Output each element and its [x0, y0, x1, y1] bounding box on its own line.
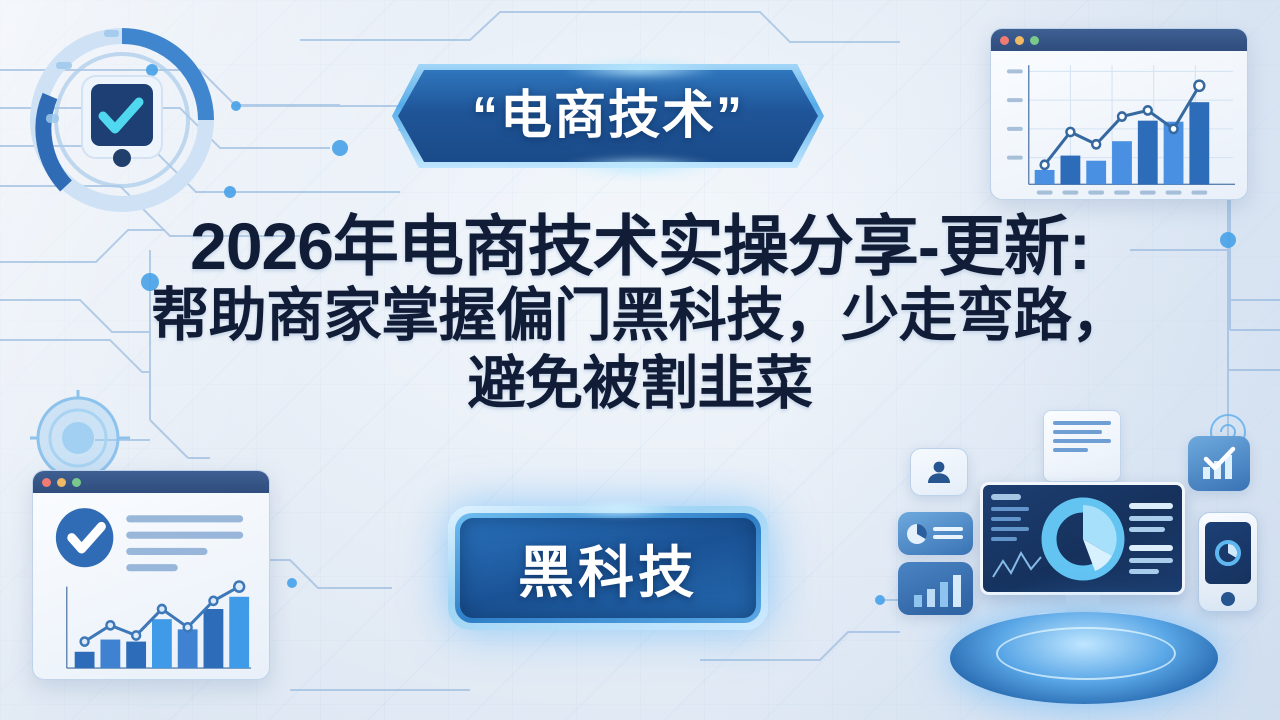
bottom-badge-label: 黑科技	[518, 528, 698, 609]
title-line-1: 2026年电商技术实操分享-更新:	[0, 212, 1280, 282]
check-circle-icon	[56, 508, 113, 567]
bar-chart-tile[interactable]	[898, 562, 973, 615]
maximize-dot-icon[interactable]	[1030, 36, 1039, 45]
glow-pedestal	[950, 612, 1218, 704]
minimize-dot-icon[interactable]	[1015, 36, 1024, 45]
maximize-dot-icon[interactable]	[72, 478, 81, 487]
bottom-badge-frame: 黑科技	[455, 513, 761, 623]
pie-icon	[903, 518, 969, 550]
top-badge-label: “电商技术”	[472, 90, 744, 142]
report-content	[33, 493, 269, 680]
bottom-badge-inner: 黑科技	[460, 518, 756, 618]
check-device-ring	[20, 18, 225, 223]
window-chart-area	[991, 51, 1247, 200]
chart-check-icon	[1197, 445, 1241, 483]
monitor-screen	[980, 482, 1185, 595]
desktop-monitor[interactable]	[980, 482, 1185, 617]
close-dot-icon[interactable]	[1000, 36, 1009, 45]
bottom-badge-glow	[565, 500, 675, 518]
phone-screen	[1205, 522, 1251, 584]
bar-chart-icon	[906, 569, 966, 609]
title-line-2: 帮助商家掌握偏门黑科技，少走弯路，	[0, 282, 1280, 350]
chart-check-tile[interactable]	[1188, 436, 1250, 491]
window-titlebar	[991, 29, 1247, 51]
user-icon	[924, 457, 954, 487]
donut-chart-icon	[1211, 536, 1245, 570]
close-dot-icon[interactable]	[42, 478, 51, 487]
analytics-window[interactable]	[990, 28, 1248, 200]
document-tile[interactable]	[1043, 410, 1121, 482]
pie-summary-tile[interactable]	[898, 512, 973, 555]
device-cluster	[880, 400, 1280, 720]
phone-home-button[interactable]	[1221, 592, 1235, 606]
window-titlebar	[33, 471, 269, 493]
top-badge-glow-lower	[560, 156, 720, 178]
page-title: 2026年电商技术实操分享-更新: 帮助商家掌握偏门黑科技，少走弯路， 避免被割…	[0, 212, 1280, 419]
minimize-dot-icon[interactable]	[57, 478, 66, 487]
monitor-neck	[1066, 595, 1100, 613]
poster-canvas: “电商技术” 2026年电商技术实操分享-更新: 帮助商家掌握偏门黑科技，少走弯…	[0, 0, 1280, 720]
user-avatar-tile[interactable]	[910, 448, 968, 496]
smartphone-tile[interactable]	[1198, 512, 1258, 612]
top-badge-glow-upper	[560, 58, 720, 80]
verified-report-window[interactable]	[32, 470, 270, 680]
bottom-badge[interactable]: 黑科技	[448, 506, 768, 630]
top-badge[interactable]: “电商技术”	[398, 70, 818, 162]
